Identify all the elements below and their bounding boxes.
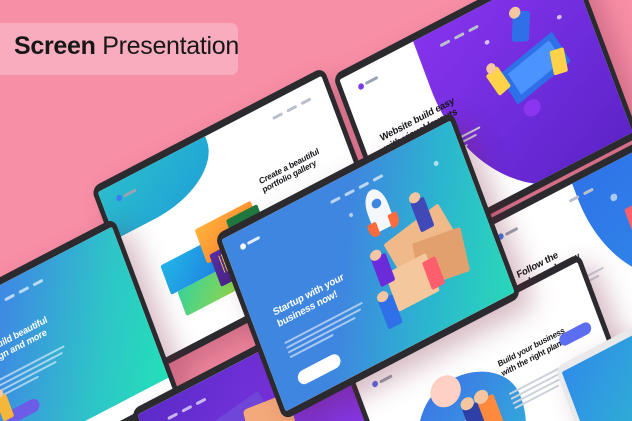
nav-item[interactable] [301,97,312,105]
logo-plan[interactable] [372,373,394,389]
logo-rules[interactable] [497,225,519,241]
nav-portfolio[interactable] [273,97,312,120]
title-bold-word: Screen [14,32,96,60]
logo-wordmark [365,76,378,85]
nav-item[interactable] [273,112,284,120]
logo-website[interactable] [358,74,380,90]
nav-item[interactable] [287,105,298,113]
logo-wordmark [379,374,392,383]
page-title: Screen Presentation [14,34,239,59]
logo-wordmark [505,226,518,235]
logo-dot-icon [358,82,365,90]
poster-canvas: Screen Presentation Create a beautiful p… [0,0,632,421]
logo-dot-icon [372,380,379,388]
title-regular-word: Presentation [96,32,239,60]
